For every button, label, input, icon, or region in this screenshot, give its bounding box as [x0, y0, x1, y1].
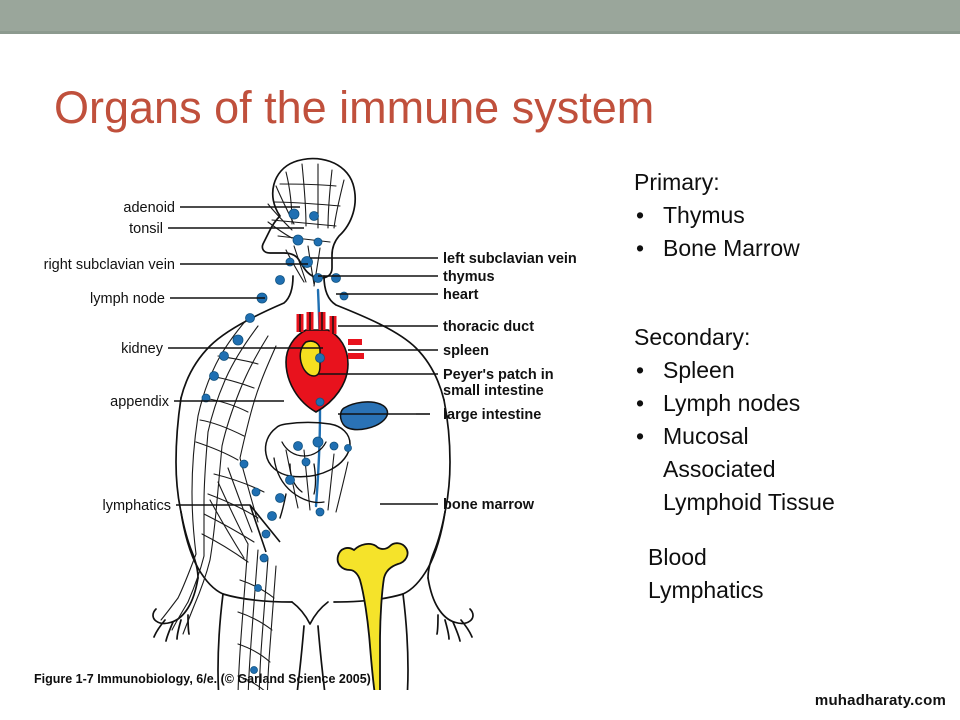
page-title: Organs of the immune system	[54, 80, 834, 136]
secondary-item-malt-line2: Associated	[634, 453, 954, 486]
label-appendix: appendix	[110, 394, 170, 410]
bullet-dot-icon: •	[636, 387, 644, 420]
secondary-heading: Secondary:	[634, 321, 954, 354]
label-lymphatics: lymphatics	[103, 498, 172, 514]
primary-heading: Primary:	[634, 166, 954, 199]
label-lymph-node: lymph node	[90, 291, 165, 307]
extra-line-blood: Blood	[634, 541, 954, 574]
primary-item-bone-marrow: • Bone Marrow	[634, 232, 954, 265]
list-spacer	[634, 265, 954, 321]
label-bone-marrow: bone marrow	[443, 497, 535, 513]
bullet-dot-icon: •	[636, 199, 644, 232]
left-label-group: adenoid tonsil right subclavian vein lym…	[44, 200, 175, 514]
label-left-subclavian-vein: left subclavian vein	[443, 251, 577, 267]
secondary-item-spleen-label: Spleen	[663, 357, 735, 383]
primary-item-thymus: • Thymus	[634, 199, 954, 232]
right-label-group: left subclavian vein thymus heart thorac…	[443, 251, 577, 513]
label-peyers-patch-line1: Peyer's patch in	[443, 367, 554, 383]
organ-spleen	[341, 402, 388, 430]
label-adenoid: adenoid	[123, 200, 175, 216]
primary-item-thymus-label: Thymus	[663, 202, 745, 228]
label-kidney: kidney	[121, 341, 164, 357]
secondary-item-malt-line3: Lymphoid Tissue	[634, 486, 954, 519]
organs-list-panel: Primary: • Thymus • Bone Marrow Secondar…	[634, 166, 954, 607]
secondary-item-lymph-nodes-label: Lymph nodes	[663, 390, 800, 416]
secondary-item-malt: • Mucosal	[634, 420, 954, 453]
organ-intestines	[265, 423, 350, 519]
bullet-dot-icon: •	[636, 232, 644, 265]
lymph-node-markers	[202, 209, 352, 674]
label-large-intestine: large intestine	[443, 407, 541, 423]
top-decorative-band	[0, 0, 960, 31]
secondary-item-malt-label: Mucosal	[663, 423, 749, 449]
organ-heart	[286, 312, 364, 412]
label-heart: heart	[443, 287, 479, 303]
top-band-rule	[0, 31, 960, 34]
label-tonsil: tonsil	[129, 221, 163, 237]
slide-canvas: Organs of the immune system	[0, 0, 960, 720]
list-spacer-2	[634, 519, 954, 541]
immune-system-diagram: adenoid tonsil right subclavian vein lym…	[18, 150, 614, 690]
bullet-dot-icon: •	[636, 420, 644, 453]
secondary-item-lymph-nodes: • Lymph nodes	[634, 387, 954, 420]
figure-caption: Figure 1-7 Immunobiology, 6/e. (© Garlan…	[34, 672, 371, 686]
bullet-dot-icon: •	[636, 354, 644, 387]
primary-item-bone-marrow-label: Bone Marrow	[663, 235, 800, 261]
secondary-item-spleen: • Spleen	[634, 354, 954, 387]
site-watermark: muhadharaty.com	[815, 692, 946, 709]
label-thymus: thymus	[443, 269, 495, 285]
label-thoracic-duct: thoracic duct	[443, 319, 534, 335]
organ-bone-marrow-femur	[338, 543, 408, 690]
body-outline	[153, 159, 473, 690]
extra-line-lymphatics: Lymphatics	[634, 574, 954, 607]
label-peyers-patch-line2: small intestine	[443, 383, 544, 399]
label-right-subclavian-vein: right subclavian vein	[44, 257, 175, 273]
label-spleen: spleen	[443, 343, 489, 359]
